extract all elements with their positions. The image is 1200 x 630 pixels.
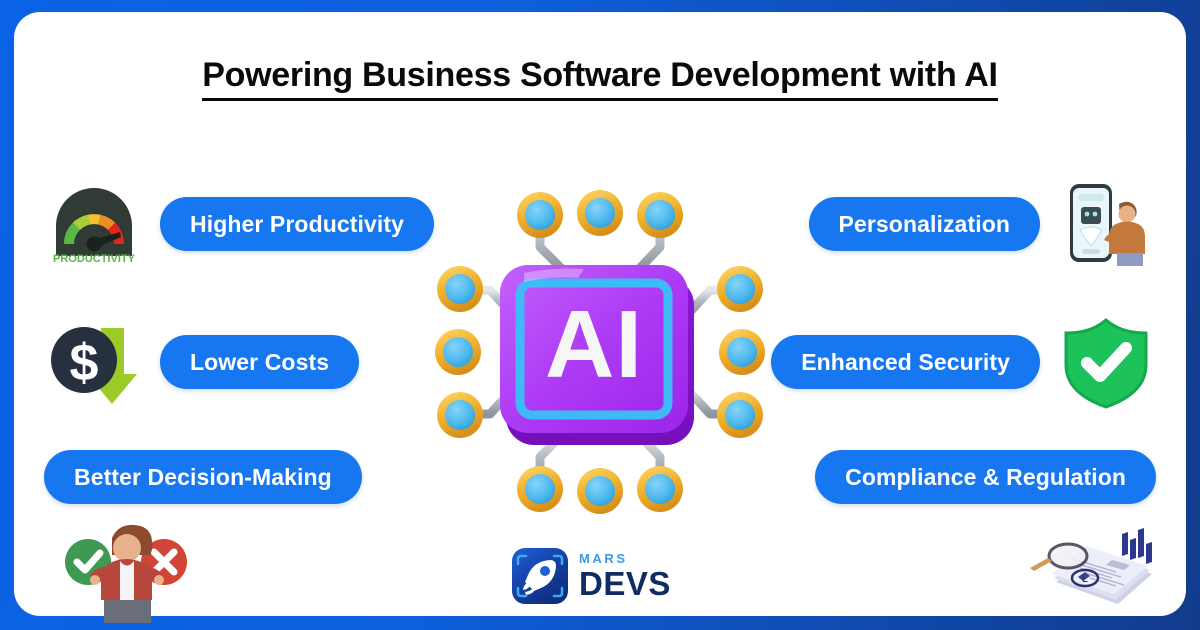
svg-text:L: L xyxy=(1082,574,1088,584)
feature-pill-enhanced-security[interactable]: Enhanced Security xyxy=(771,335,1040,389)
person-with-phone-icon xyxy=(1056,174,1156,274)
marsdevs-logo[interactable]: MARS DEVS xyxy=(512,545,688,607)
feature-pill-higher-productivity[interactable]: Higher Productivity xyxy=(160,197,434,251)
logo-wordmark: MARS DEVS xyxy=(579,552,671,600)
feature-row-3-right: Compliance & Regulation xyxy=(815,450,1156,504)
feature-pill-better-decision-making[interactable]: Better Decision-Making xyxy=(44,450,362,504)
page-title: Powering Business Software Development w… xyxy=(14,56,1186,95)
feature-pill-personalization[interactable]: Personalization xyxy=(809,197,1040,251)
document-magnifier-chart-icon: L xyxy=(1012,518,1162,627)
logo-mars-text: MARS xyxy=(579,552,671,565)
dollar-down-arrow-icon: $ xyxy=(44,312,144,412)
chip-ai-label: AI xyxy=(545,291,643,398)
decision-person-check-cross-icon xyxy=(56,520,196,629)
logo-devs-text: DEVS xyxy=(579,567,671,600)
page-title-text: Powering Business Software Development w… xyxy=(202,56,997,101)
feature-row-2-right: Enhanced Security xyxy=(771,312,1156,412)
feature-row-2-left: $ Lower Costs xyxy=(44,312,359,412)
infographic-card: Powering Business Software Development w… xyxy=(14,12,1186,616)
feature-row-1-right: Personalization xyxy=(809,174,1156,274)
feature-pill-lower-costs[interactable]: Lower Costs xyxy=(160,335,359,389)
feature-row-1-left: PRODUCTIVITY Higher Productivity xyxy=(44,174,434,274)
shield-check-icon xyxy=(1056,312,1156,412)
ai-chip-illustration: AI xyxy=(420,177,780,527)
rocket-icon xyxy=(512,548,568,604)
productivity-gauge-caption: PRODUCTIVITY xyxy=(53,253,136,265)
feature-row-3-left: Better Decision-Making xyxy=(44,450,362,504)
outer-blue-frame: Powering Business Software Development w… xyxy=(0,0,1200,630)
feature-pill-compliance-regulation[interactable]: Compliance & Regulation xyxy=(815,450,1156,504)
productivity-gauge-icon: PRODUCTIVITY xyxy=(44,174,144,274)
dollar-sign-glyph: $ xyxy=(70,334,99,392)
